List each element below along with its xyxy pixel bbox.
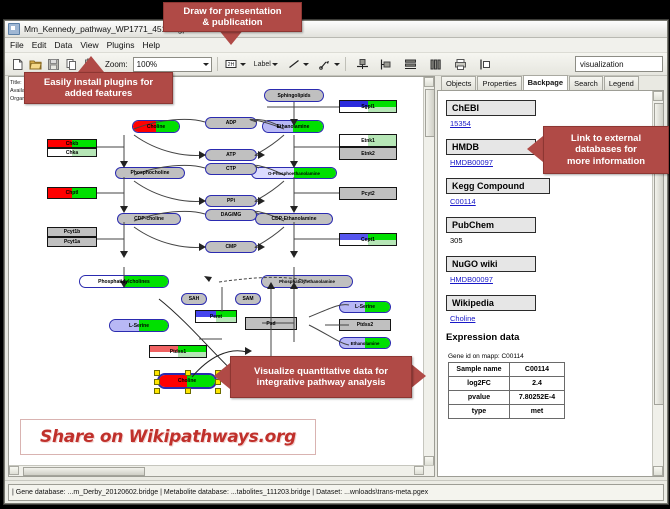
gene-node-chkb[interactable]: Chkb: [47, 139, 97, 148]
metabolite-node-sam[interactable]: SAM: [235, 293, 261, 305]
metabolite-node-phosphocholine[interactable]: Phosphocholine: [115, 167, 185, 179]
status-text: | Gene database: ...m_Derby_20120602.bri…: [12, 489, 428, 496]
metabolite-node-cdp-choline[interactable]: CDP-choline: [117, 213, 181, 225]
selection-handle[interactable]: [185, 370, 191, 376]
scroll-left-button[interactable]: [9, 466, 19, 475]
selection-handle[interactable]: [185, 388, 191, 394]
metabolite-label: PPi: [227, 198, 235, 204]
metabolite-node-ctp[interactable]: CTP: [205, 163, 257, 175]
tab-backpage[interactable]: Backpage: [523, 75, 568, 90]
zoom-label: Zoom:: [105, 60, 128, 69]
scroll-down-button[interactable]: [653, 466, 663, 476]
callout-share-text: Share on Wikipathways.org: [40, 427, 296, 447]
metabolite-node-ethanolamine[interactable]: Ethanolamine: [262, 120, 324, 133]
metabolite-node-ppi[interactable]: PPi: [205, 195, 257, 207]
gene-node-sgpl1[interactable]: Sgpl1: [339, 100, 397, 113]
visualization-combo[interactable]: visualization: [575, 56, 663, 72]
menu-bar: File Edit Data View Plugins Help: [5, 38, 667, 53]
chevron-down-icon: [334, 63, 340, 66]
interaction-tool[interactable]: [317, 56, 340, 72]
gene-node-chka[interactable]: Chka: [47, 148, 97, 157]
metabolite-label: ATP: [226, 152, 236, 158]
metabolite-node-cdp-ethanolamine[interactable]: CDP-Ethanolamine: [255, 213, 333, 225]
db-header-hmdb: HMDB: [446, 139, 536, 155]
gene-node-etnk1[interactable]: Etnk1: [339, 134, 397, 147]
gene-node-pcyt1a[interactable]: Pcyt1a: [47, 237, 97, 247]
gene-label: Pemt: [210, 314, 222, 320]
tab-properties[interactable]: Properties: [477, 76, 521, 90]
expr-value: 2.4: [510, 377, 565, 391]
callout-link-line2: databases for: [575, 144, 637, 155]
gene-label: Chkb: [66, 141, 79, 147]
gene-label: Chka: [66, 150, 78, 156]
gene-label: Pcyt1b: [64, 229, 80, 235]
table-row: Sample name C00114: [449, 363, 565, 377]
expr-key: pvalue: [449, 391, 510, 405]
expr-value: C00114: [510, 363, 565, 377]
db-header-kegg-compound: Kegg Compound: [446, 178, 550, 194]
gene-node-chptl[interactable]: Chptl: [47, 187, 97, 199]
callout-share: Share on Wikipathways.org: [20, 419, 316, 455]
metabolite-label: L-Serine: [355, 304, 375, 310]
metabolite-node-phosphatidylethanolamine[interactable]: Phosphatidylethanolamine: [261, 275, 353, 288]
gene-label: Sgpl1: [361, 104, 375, 110]
gene-node-ptdss1[interactable]: Ptdss1: [149, 345, 207, 358]
metabolite-node-dag-mg[interactable]: DAG/MG: [205, 209, 257, 221]
pathway-drawing[interactable]: Title: Availa Organ: [9, 77, 434, 476]
metabolite-label: Phosphatidylethanolamine: [279, 279, 335, 284]
callout-plugins: Easily install plugins for added feature…: [24, 72, 173, 104]
callout-draw-line1: Draw for presentation: [183, 6, 281, 17]
expression-data-heading: Expression data: [446, 332, 653, 343]
stack-vertical-icon[interactable]: [403, 56, 419, 72]
gene-label: Pcyt1a: [64, 239, 80, 245]
metabolite-node-l-serine-left[interactable]: L-Serine: [109, 319, 169, 332]
layout-icon[interactable]: [478, 56, 494, 72]
gene-label: Pcyt2: [361, 191, 374, 197]
db-header-nugo-wiki: NuGO wiki: [446, 256, 536, 272]
gene-label: Ptdss1: [170, 349, 186, 355]
callout-draw: Draw for presentation & publication: [163, 2, 302, 32]
scroll-up-button[interactable]: [424, 77, 434, 87]
side-panel-tabs: Objects Properties Backpage Search Legen…: [437, 76, 664, 90]
metabolite-node-l-serine-right[interactable]: L-Serine: [339, 301, 391, 313]
align-top-icon[interactable]: [355, 56, 371, 72]
pathway-canvas[interactable]: Title: Availa Organ: [8, 76, 435, 477]
gene-label: Etnk1: [361, 138, 375, 144]
pathway-meta: Title: Availa Organ: [10, 79, 25, 103]
gene-node-cept1[interactable]: Cept1: [339, 233, 397, 246]
pathway-meta-title: Title:: [10, 79, 25, 87]
gene-node-pcyt1b[interactable]: Pcyt1b: [47, 227, 97, 237]
zoom-combo[interactable]: 100%: [133, 57, 212, 72]
expr-key: log2FC: [449, 377, 510, 391]
table-row: type met: [449, 405, 565, 419]
zoom-value: 100%: [137, 60, 157, 69]
selection-handle[interactable]: [154, 370, 160, 376]
metabolite-node-sphingolipids[interactable]: Sphingolipids: [264, 89, 324, 102]
metabolite-label: L-Serine: [129, 323, 149, 329]
selection-handle[interactable]: [154, 388, 160, 394]
gene-node-psd[interactable]: Psd: [245, 317, 297, 330]
callout-plugins-arrow-icon: [78, 56, 104, 72]
interaction-icon[interactable]: [317, 56, 333, 72]
callout-plugins-line2: added features: [65, 88, 133, 99]
callout-visualize-arrow-right-icon: [410, 363, 426, 389]
selected-node-wrapper[interactable]: Choline: [157, 373, 217, 389]
callout-draw-line2: & publication: [202, 17, 262, 28]
tab-search[interactable]: Search: [569, 76, 603, 90]
pathway-meta-organism: Organ: [10, 95, 25, 103]
selection-handle[interactable]: [154, 379, 160, 385]
screenshot-root: Mm_Kennedy_pathway_WP1771_45176.gpml Fil…: [0, 0, 670, 509]
chevron-down-icon: [272, 63, 278, 66]
callout-link-line1: Link to external: [571, 133, 641, 144]
gene-label: Cept1: [361, 237, 375, 243]
line-icon[interactable]: [286, 56, 302, 72]
status-bar: | Gene database: ...m_Derby_20120602.bri…: [5, 480, 667, 503]
expr-key: type: [449, 405, 510, 419]
toolbar-separator: [345, 57, 346, 71]
db-link-kegg-compound[interactable]: C00114: [450, 197, 653, 206]
canvas-horizontal-scrollbar[interactable]: [9, 465, 434, 476]
menu-item-data[interactable]: Data: [54, 40, 72, 50]
gene-label: Psd: [266, 321, 275, 327]
db-link-wikipedia[interactable]: Choline: [450, 314, 653, 323]
chevron-down-icon: [240, 63, 246, 66]
metabolite-label: CMP: [225, 244, 236, 250]
callout-visualize-line1: Visualize quantitative data for: [254, 366, 388, 377]
metabolite-label: Sphingolipids: [277, 93, 310, 99]
menu-item-view[interactable]: View: [80, 40, 98, 50]
callout-visualize-line2: integrative pathway analysis: [257, 377, 386, 388]
line-tool[interactable]: [286, 56, 309, 72]
expr-value: 7.80252E-4: [510, 391, 565, 405]
open-folder-icon[interactable]: [27, 56, 43, 72]
vertical-scroll-thumb[interactable]: [425, 89, 435, 137]
canvas-vertical-scrollbar[interactable]: [423, 77, 434, 466]
callout-plugins-line1: Easily install plugins for: [44, 77, 153, 88]
metabolite-label: Phosphatidylcholines: [98, 279, 150, 285]
metabolite-label: SAM: [242, 296, 253, 302]
distribute-icon[interactable]: [428, 56, 444, 72]
metabolite-node-ethanolamine-lower[interactable]: Ethanolamine: [339, 337, 391, 349]
expr-key: Sample name: [449, 363, 510, 377]
align-left-icon[interactable]: [378, 56, 394, 72]
print-icon[interactable]: [453, 56, 469, 72]
gene-node-ptdss2[interactable]: Ptdss2: [339, 319, 391, 331]
metabolite-node-o-phosphoethanolamine[interactable]: O-Phosphoethanolamine: [251, 167, 337, 179]
metabolite-node-cmp[interactable]: CMP: [205, 241, 257, 253]
datanode-tool[interactable]: 2H: [223, 56, 246, 72]
gene-label: Chptl: [66, 190, 79, 196]
metabolite-node-choline[interactable]: Choline: [132, 120, 180, 133]
gene-node-pcyt2[interactable]: Pcyt2: [339, 187, 397, 200]
metabolite-node-adp[interactable]: ADP: [205, 117, 257, 129]
menu-item-edit[interactable]: Edit: [32, 40, 47, 50]
gene-node-pemt[interactable]: Pemt: [195, 310, 237, 323]
expr-value: met: [510, 405, 565, 419]
metabolite-label: ADP: [226, 120, 237, 126]
metabolite-label: Ethanolamine: [351, 341, 380, 346]
app-icon: [8, 23, 20, 35]
metabolite-label: DAG/MG: [221, 212, 242, 218]
tab-legend[interactable]: Legend: [604, 76, 639, 90]
callout-link: Link to external databases for more info…: [543, 126, 669, 174]
metabolite-label: CTP: [226, 166, 236, 172]
datanode-icon[interactable]: 2H: [223, 56, 239, 72]
callout-link-line3: more information: [567, 156, 645, 167]
menu-item-help[interactable]: Help: [143, 40, 160, 50]
tab-objects[interactable]: Objects: [441, 76, 476, 90]
table-row: log2FC 2.4: [449, 377, 565, 391]
metabolite-node-sah[interactable]: SAH: [181, 293, 207, 305]
metabolite-node-phosphatidylcholines[interactable]: Phosphatidylcholines: [79, 275, 169, 288]
scroll-right-button[interactable]: [414, 466, 424, 475]
visualization-value: visualization: [580, 60, 624, 69]
db-header-wikipedia: Wikipedia: [446, 295, 536, 311]
gene-label: Ptdss2: [357, 322, 373, 328]
table-row: pvalue 7.80252E-4: [449, 391, 565, 405]
pathway-meta-availability: Availa: [10, 87, 25, 95]
gene-id-on-mapp: Gene id on mapp: C00114: [448, 353, 653, 360]
metabolite-label: SAH: [189, 296, 200, 302]
new-file-icon[interactable]: [9, 56, 25, 72]
metabolite-label: Choline: [178, 378, 196, 384]
callout-visualize-arrow-left-icon: [214, 363, 230, 389]
metabolite-label: CDP-Ethanolamine: [271, 216, 316, 222]
metabolite-node-atp[interactable]: ATP: [205, 149, 257, 161]
gene-node-etnk2[interactable]: Etnk2: [339, 147, 397, 160]
metabolite-label: Phosphocholine: [131, 170, 170, 176]
db-link-nugo-wiki[interactable]: HMDB00097: [450, 275, 653, 284]
menu-item-file[interactable]: File: [10, 40, 24, 50]
horizontal-scroll-thumb[interactable]: [23, 467, 145, 476]
metabolite-label: Choline: [147, 124, 165, 130]
toolbar-separator: [217, 57, 218, 71]
label-tool[interactable]: Label: [254, 61, 278, 68]
title-bar: Mm_Kennedy_pathway_WP1771_45176.gpml: [5, 21, 667, 38]
chevron-down-icon: [303, 63, 309, 66]
save-icon[interactable]: [45, 56, 61, 72]
metabolite-label: CDP-choline: [134, 216, 164, 222]
label-tool-text: Label: [254, 61, 271, 68]
metabolite-label: O-Phosphoethanolamine: [268, 171, 320, 176]
menu-item-plugins[interactable]: Plugins: [107, 40, 135, 50]
db-header-pubchem: PubChem: [446, 217, 536, 233]
callout-visualize: Visualize quantitative data for integrat…: [230, 356, 412, 398]
copy-icon[interactable]: [63, 56, 79, 72]
svg-text:2H: 2H: [227, 62, 234, 68]
chevron-down-icon: [203, 63, 209, 66]
scroll-up-button[interactable]: [653, 91, 663, 101]
gene-label: Etnk2: [361, 151, 375, 157]
callout-link-arrow-icon: [527, 136, 543, 162]
db-header-chebi: ChEBI: [446, 100, 536, 116]
expression-table: Sample name C00114 log2FC 2.4 pvalue 7.8…: [448, 362, 565, 419]
db-value-pubchem: 305: [450, 236, 653, 245]
metabolite-label: Ethanolamine: [277, 124, 310, 130]
